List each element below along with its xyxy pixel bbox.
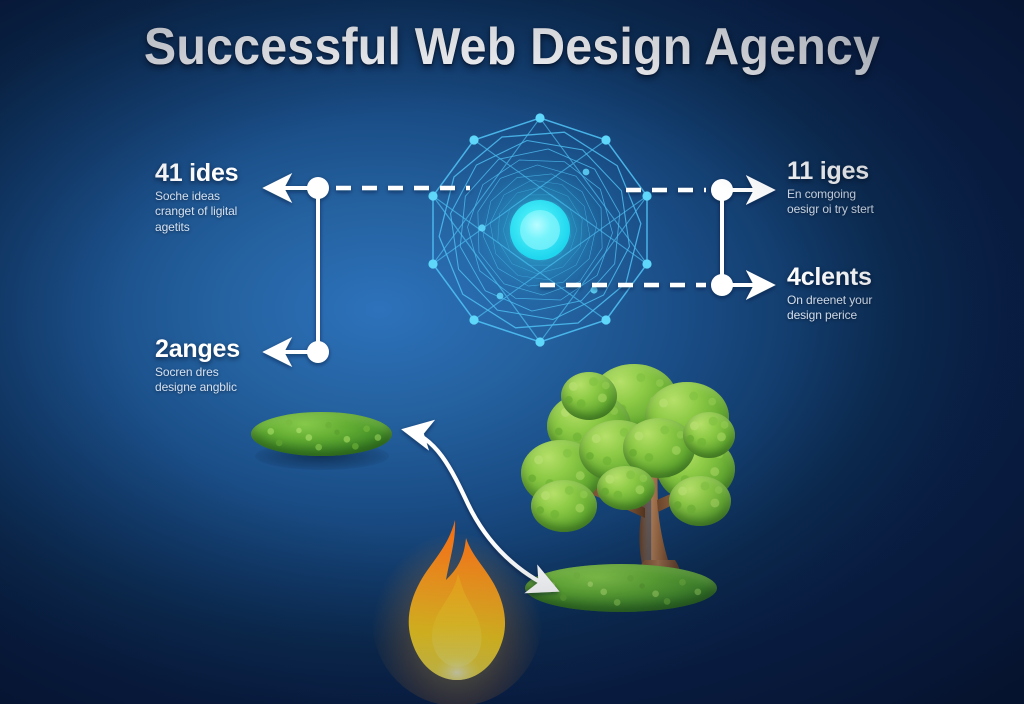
label-line: Socren dres bbox=[155, 365, 345, 380]
label-bottom-left-subtext: Socren dres designe angblic bbox=[155, 365, 345, 396]
label-line: designe angblic bbox=[155, 380, 345, 395]
label-bottom-left: 2anges Socren dres designe angblic bbox=[155, 336, 345, 396]
label-top-right: 11 iges En comgoing oesigr oi try stert bbox=[787, 158, 987, 218]
label-line: On dreenet your bbox=[787, 293, 987, 308]
label-top-right-subtext: En comgoing oesigr oi try stert bbox=[787, 187, 987, 218]
connector-overlay bbox=[0, 0, 1024, 704]
label-bottom-left-heading: 2anges bbox=[155, 336, 345, 362]
label-line: cranget of ligital bbox=[155, 204, 345, 219]
node-right-top[interactable] bbox=[711, 179, 733, 201]
label-top-left: 41 ides Soche ideas cranget of ligital a… bbox=[155, 160, 345, 235]
network-sphere-icon bbox=[421, 109, 659, 351]
infographic-canvas: Successful Web Design Agency bbox=[0, 0, 1024, 704]
label-line: Soche ideas bbox=[155, 189, 345, 204]
label-top-left-subtext: Soche ideas cranget of ligital agetits bbox=[155, 189, 345, 235]
label-line: oesigr oi try stert bbox=[787, 202, 987, 217]
label-top-right-heading: 11 iges bbox=[787, 158, 987, 184]
curved-double-arrow bbox=[405, 430, 556, 590]
node-right-bottom[interactable] bbox=[711, 274, 733, 296]
label-line: En comgoing bbox=[787, 187, 987, 202]
label-bottom-right: 4clents On dreenet your design perice bbox=[787, 264, 987, 324]
label-top-left-heading: 41 ides bbox=[155, 160, 345, 186]
label-line: design perice bbox=[787, 308, 987, 323]
label-bottom-right-heading: 4clents bbox=[787, 264, 987, 290]
label-line: agetits bbox=[155, 220, 345, 235]
label-bottom-right-subtext: On dreenet your design perice bbox=[787, 293, 987, 324]
